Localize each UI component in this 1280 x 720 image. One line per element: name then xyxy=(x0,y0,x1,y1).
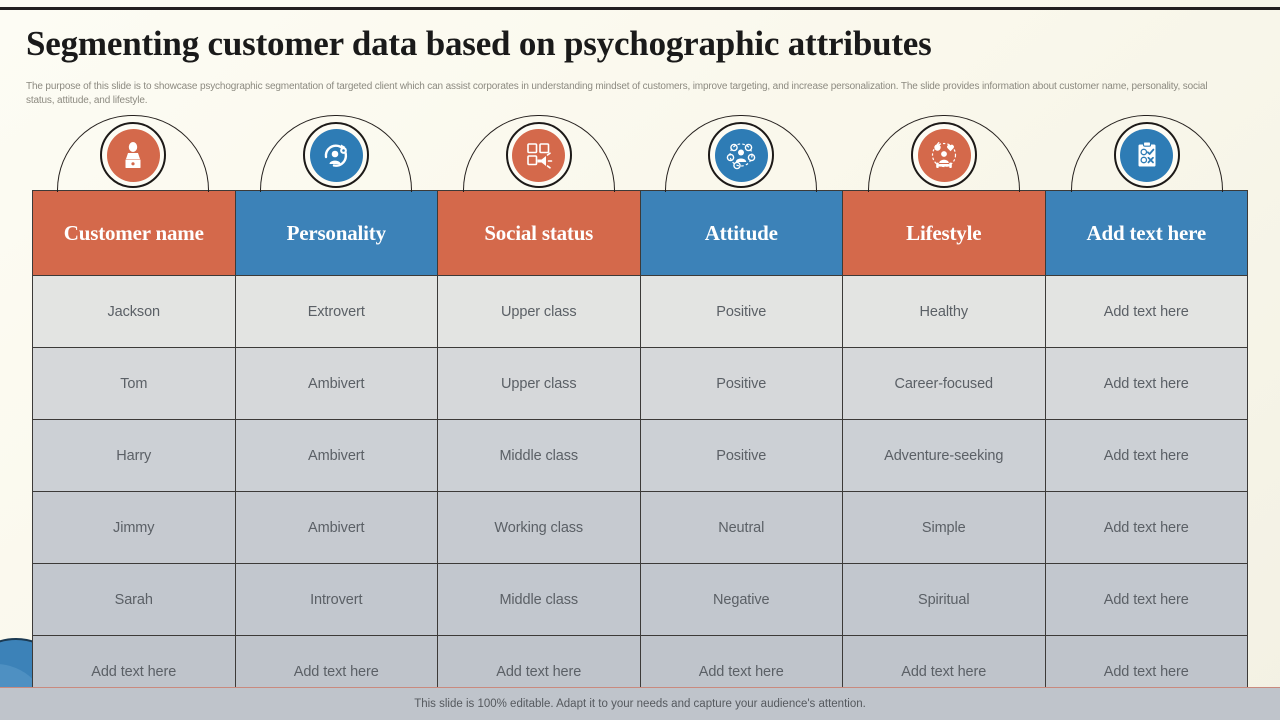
table-cell[interactable]: Positive xyxy=(640,276,843,348)
top-divider-rule xyxy=(0,7,1280,10)
column-header-customer-name[interactable]: Customer name xyxy=(33,191,236,276)
icon-badge-customer-name xyxy=(100,122,166,188)
column-header-social-status[interactable]: Social status xyxy=(438,191,641,276)
table-cell[interactable]: Adventure-seeking xyxy=(843,420,1046,492)
icon-cell-lifestyle xyxy=(843,118,1046,192)
clipboard-check-cross-icon xyxy=(1120,129,1173,182)
table-cell[interactable]: Simple xyxy=(843,492,1046,564)
table-cell[interactable]: Negative xyxy=(640,564,843,636)
icon-badge-lifestyle xyxy=(911,122,977,188)
icon-badge-personality xyxy=(303,122,369,188)
table-cell[interactable]: Add text here xyxy=(1045,564,1248,636)
table-cell[interactable]: Positive xyxy=(640,420,843,492)
table-row: Tom Ambivert Upper class Positive Career… xyxy=(33,348,1248,420)
footer-note: This slide is 100% editable. Adapt it to… xyxy=(414,698,866,710)
icon-badge-attitude xyxy=(708,122,774,188)
table-row: Jackson Extrovert Upper class Positive H… xyxy=(33,276,1248,348)
psychographic-table: Customer name Personality Social status … xyxy=(32,190,1248,708)
column-header-personality[interactable]: Personality xyxy=(235,191,438,276)
table-cell[interactable]: Upper class xyxy=(438,276,641,348)
table-row: Harry Ambivert Middle class Positive Adv… xyxy=(33,420,1248,492)
page-subtitle: The purpose of this slide is to showcase… xyxy=(26,80,1216,108)
column-header-add-text-here[interactable]: Add text here xyxy=(1045,191,1248,276)
table-cell[interactable]: Spiritual xyxy=(843,564,1046,636)
icon-badge-social-status xyxy=(506,122,572,188)
table-row: Sarah Introvert Middle class Negative Sp… xyxy=(33,564,1248,636)
table-cell[interactable]: Add text here xyxy=(1045,492,1248,564)
table-cell[interactable]: Introvert xyxy=(235,564,438,636)
lifestyle-health-person-icon xyxy=(918,129,971,182)
icon-cell-customer-name xyxy=(32,118,235,192)
column-header-lifestyle[interactable]: Lifestyle xyxy=(843,191,1046,276)
table-cell[interactable]: Jimmy xyxy=(33,492,236,564)
table-cell[interactable]: Add text here xyxy=(1045,420,1248,492)
table-cell[interactable]: Upper class xyxy=(438,348,641,420)
footer-bar: This slide is 100% editable. Adapt it to… xyxy=(0,688,1280,720)
table-cell[interactable]: Healthy xyxy=(843,276,1046,348)
table-cell[interactable]: Add text here xyxy=(1045,276,1248,348)
person-at-podium-icon xyxy=(107,129,160,182)
table-cell[interactable]: Harry xyxy=(33,420,236,492)
page-title: Segmenting customer data based on psycho… xyxy=(26,24,932,64)
person-network-connections-icon xyxy=(715,129,768,182)
table-cell[interactable]: Add text here xyxy=(1045,348,1248,420)
icon-cell-personality xyxy=(235,118,438,192)
table-header-row: Customer name Personality Social status … xyxy=(33,191,1248,276)
icon-cell-add-text-here xyxy=(1045,118,1248,192)
psychographic-table-container: Customer name Personality Social status … xyxy=(32,190,1248,708)
icon-badge-add-text-here xyxy=(1114,122,1180,188)
table-body: Jackson Extrovert Upper class Positive H… xyxy=(33,276,1248,708)
table-cell[interactable]: Positive xyxy=(640,348,843,420)
icon-cell-attitude xyxy=(640,118,843,192)
person-profile-refresh-gear-icon xyxy=(310,129,363,182)
table-cell[interactable]: Neutral xyxy=(640,492,843,564)
icon-row xyxy=(32,118,1248,192)
table-cell[interactable]: Sarah xyxy=(33,564,236,636)
table-cell[interactable]: Jackson xyxy=(33,276,236,348)
table-cell[interactable]: Middle class xyxy=(438,564,641,636)
table-cell[interactable]: Working class xyxy=(438,492,641,564)
table-row: Jimmy Ambivert Working class Neutral Sim… xyxy=(33,492,1248,564)
social-media-megaphone-icon xyxy=(512,129,565,182)
table-cell[interactable]: Tom xyxy=(33,348,236,420)
table-cell[interactable]: Career-focused xyxy=(843,348,1046,420)
table-cell[interactable]: Middle class xyxy=(438,420,641,492)
table-header: Customer name Personality Social status … xyxy=(33,191,1248,276)
column-header-attitude[interactable]: Attitude xyxy=(640,191,843,276)
table-cell[interactable]: Extrovert xyxy=(235,276,438,348)
table-cell[interactable]: Ambivert xyxy=(235,348,438,420)
table-cell[interactable]: Ambivert xyxy=(235,420,438,492)
icon-cell-social-status xyxy=(437,118,640,192)
slide-canvas: Segmenting customer data based on psycho… xyxy=(0,0,1280,720)
table-cell[interactable]: Ambivert xyxy=(235,492,438,564)
